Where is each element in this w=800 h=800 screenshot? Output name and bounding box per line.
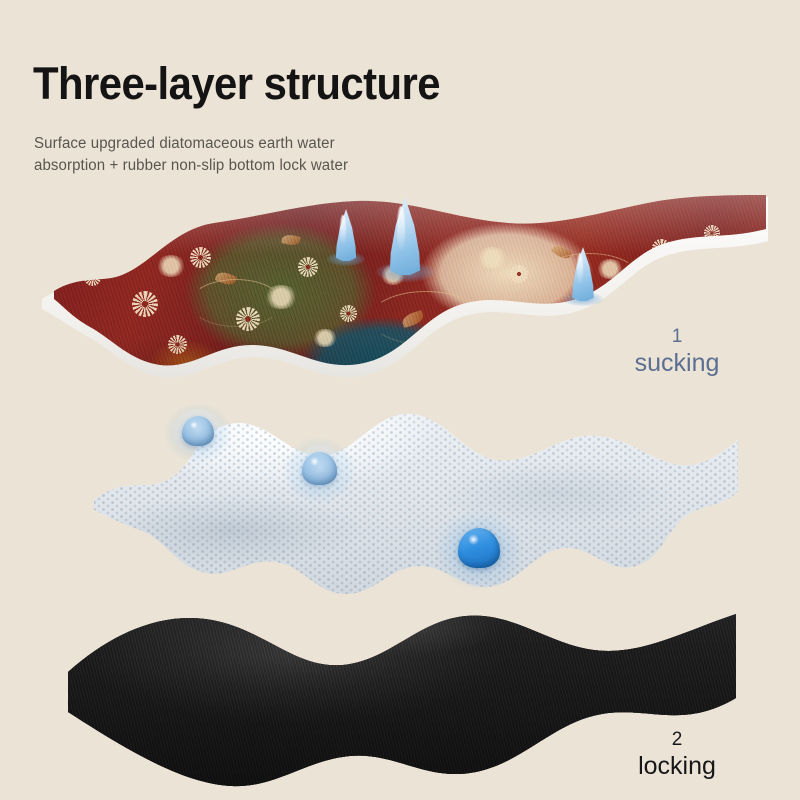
droplet-body (568, 247, 598, 301)
droplet-highlight (577, 253, 583, 284)
callout-sucking: 1 sucking (612, 325, 742, 379)
water-droplet (568, 247, 598, 301)
droplet-body (384, 197, 426, 275)
callout-label: locking (612, 751, 742, 782)
water-bead (458, 528, 500, 568)
droplet-body (332, 209, 360, 261)
droplet-highlight (397, 206, 405, 251)
callout-number: 1 (612, 325, 742, 348)
callout-locking: 2 locking (612, 728, 742, 782)
bead-dome (302, 452, 337, 485)
page-title: Three-layer structure (33, 58, 440, 110)
page-subtitle: Surface upgraded diatomaceous earth wate… (34, 133, 348, 178)
layer-top-carpet (40, 195, 770, 425)
product-infographic: Three-layer structure Surface upgraded d… (0, 0, 800, 800)
callout-label: sucking (612, 348, 742, 379)
water-droplet (332, 209, 360, 261)
water-bead (302, 452, 337, 485)
bead-specular-highlight (468, 534, 479, 544)
bead-dome (458, 528, 500, 568)
callout-number: 2 (612, 728, 742, 751)
water-droplet (384, 197, 426, 275)
